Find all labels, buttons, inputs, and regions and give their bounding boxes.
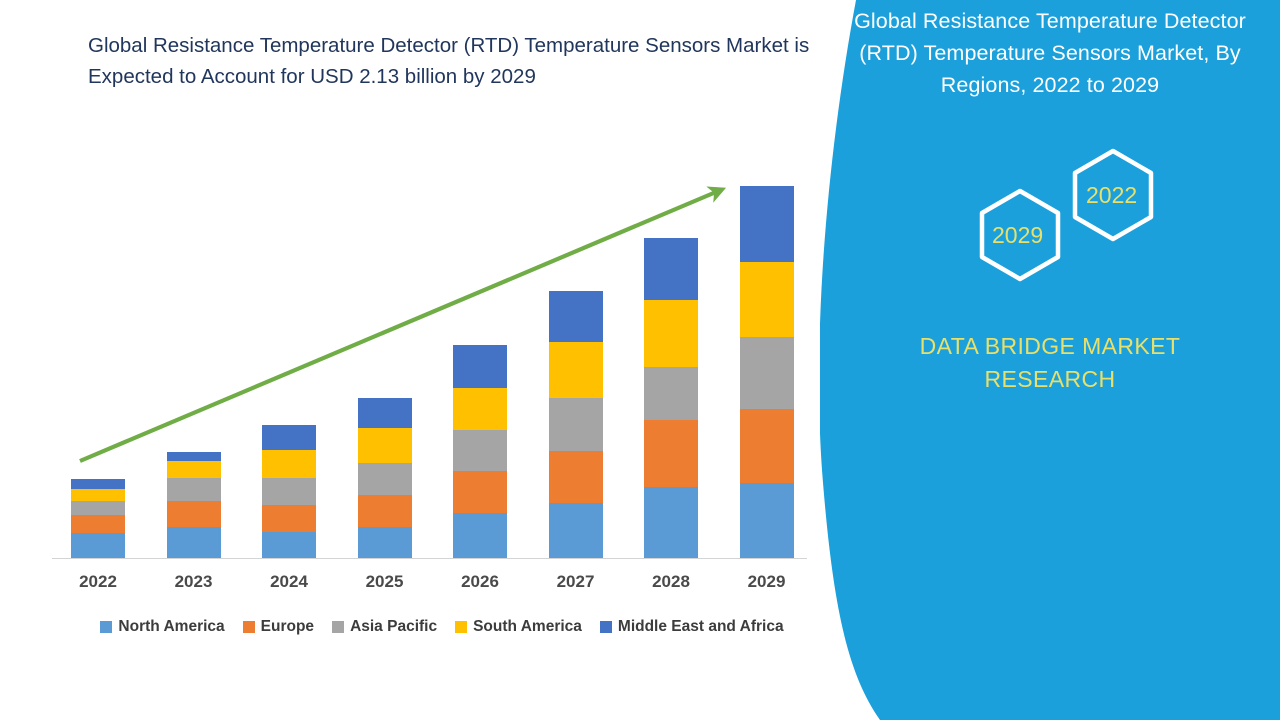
bar-segment-europe-2029 — [740, 409, 794, 483]
bar-segment-asia-pacific-2023 — [167, 478, 221, 501]
legend-swatch-icon — [600, 621, 612, 633]
x-axis-label-2027: 2027 — [531, 572, 621, 592]
bar-segment-south-america-2022 — [71, 489, 125, 501]
brand-panel: Global Resistance Temperature Detector (… — [820, 0, 1280, 720]
bar-segment-north-america-2024 — [262, 532, 316, 558]
x-axis-label-2026: 2026 — [435, 572, 525, 592]
slide-canvas: Global Resistance Temperature Detector (… — [0, 0, 1280, 720]
hexagon-badges: 2022 2029 — [948, 148, 1168, 293]
bar-segment-asia-pacific-2029 — [740, 337, 794, 409]
hex-label-2022: 2022 — [1086, 182, 1137, 209]
bar-segment-middle-east-and-africa-2026 — [453, 345, 507, 388]
bar-segment-south-america-2025 — [358, 428, 412, 463]
bar-segment-europe-2028 — [644, 420, 698, 487]
chart-legend: North AmericaEuropeAsia PacificSouth Ame… — [52, 618, 832, 636]
bar-segment-middle-east-and-africa-2022 — [71, 479, 125, 489]
bar-segment-europe-2025 — [358, 495, 412, 527]
brand-line-2: RESEARCH — [860, 363, 1240, 396]
brand-name: DATA BRIDGE MARKET RESEARCH — [860, 330, 1240, 395]
legend-label: Middle East and Africa — [618, 618, 784, 636]
bar-segment-asia-pacific-2026 — [453, 430, 507, 471]
chart-plot-area: 20222023202420252026202720282029 — [0, 0, 860, 720]
x-axis-label-2022: 2022 — [53, 572, 143, 592]
legend-label: Europe — [261, 618, 314, 636]
bar-2028 — [644, 238, 698, 558]
x-axis-line — [52, 558, 807, 559]
bar-segment-middle-east-and-africa-2028 — [644, 238, 698, 300]
bar-segment-north-america-2022 — [71, 533, 125, 558]
bar-segment-asia-pacific-2028 — [644, 367, 698, 420]
x-axis-label-2029: 2029 — [722, 572, 812, 592]
bar-segment-europe-2023 — [167, 501, 221, 527]
bar-segment-middle-east-and-africa-2027 — [549, 291, 603, 342]
bar-2029 — [740, 186, 794, 558]
legend-label: South America — [473, 618, 582, 636]
legend-label: North America — [118, 618, 224, 636]
legend-label: Asia Pacific — [350, 618, 437, 636]
bar-segment-north-america-2027 — [549, 503, 603, 558]
bar-segment-south-america-2028 — [644, 300, 698, 367]
bar-segment-middle-east-and-africa-2029 — [740, 186, 794, 262]
bar-segment-south-america-2024 — [262, 450, 316, 478]
bar-2024 — [262, 425, 316, 558]
panel-title: Global Resistance Temperature Detector (… — [850, 6, 1250, 101]
legend-item-north-america[interactable]: North America — [100, 618, 224, 636]
bar-segment-middle-east-and-africa-2024 — [262, 425, 316, 450]
legend-item-south-america[interactable]: South America — [455, 618, 582, 636]
bar-2022 — [71, 479, 125, 558]
bar-segment-asia-pacific-2024 — [262, 478, 316, 505]
legend-swatch-icon — [100, 621, 112, 633]
bar-2026 — [453, 345, 507, 558]
bar-segment-north-america-2029 — [740, 483, 794, 558]
hexagon-outline-icon — [948, 148, 1168, 293]
legend-item-middle-east-and-africa[interactable]: Middle East and Africa — [600, 618, 784, 636]
bar-segment-north-america-2028 — [644, 487, 698, 558]
hex-label-2029: 2029 — [992, 222, 1043, 249]
bar-segment-asia-pacific-2025 — [358, 463, 412, 495]
bar-segment-south-america-2027 — [549, 342, 603, 398]
bar-2025 — [358, 398, 412, 558]
bar-segment-asia-pacific-2022 — [71, 501, 125, 515]
x-axis-label-2024: 2024 — [244, 572, 334, 592]
legend-swatch-icon — [455, 621, 467, 633]
bar-segment-north-america-2025 — [358, 527, 412, 558]
bar-segment-middle-east-and-africa-2023 — [167, 452, 221, 461]
brand-line-1: DATA BRIDGE MARKET — [860, 330, 1240, 363]
bar-segment-asia-pacific-2027 — [549, 398, 603, 451]
legend-item-europe[interactable]: Europe — [243, 618, 314, 636]
legend-item-asia-pacific[interactable]: Asia Pacific — [332, 618, 437, 636]
legend-swatch-icon — [243, 621, 255, 633]
x-axis-label-2023: 2023 — [149, 572, 239, 592]
bar-segment-south-america-2026 — [453, 388, 507, 430]
bar-segment-middle-east-and-africa-2025 — [358, 398, 412, 428]
bar-segment-europe-2027 — [549, 451, 603, 503]
bar-segment-europe-2022 — [71, 515, 125, 533]
bar-segment-europe-2026 — [453, 471, 507, 513]
bar-segment-south-america-2023 — [167, 461, 221, 478]
bar-2027 — [549, 291, 603, 558]
bar-segment-north-america-2023 — [167, 527, 221, 558]
bar-segment-north-america-2026 — [453, 513, 507, 558]
growth-arrow-icon — [0, 0, 860, 720]
bar-segment-south-america-2029 — [740, 262, 794, 337]
x-axis-label-2025: 2025 — [340, 572, 430, 592]
legend-swatch-icon — [332, 621, 344, 633]
bar-2023 — [167, 452, 221, 558]
x-axis-label-2028: 2028 — [626, 572, 716, 592]
bar-segment-europe-2024 — [262, 505, 316, 532]
